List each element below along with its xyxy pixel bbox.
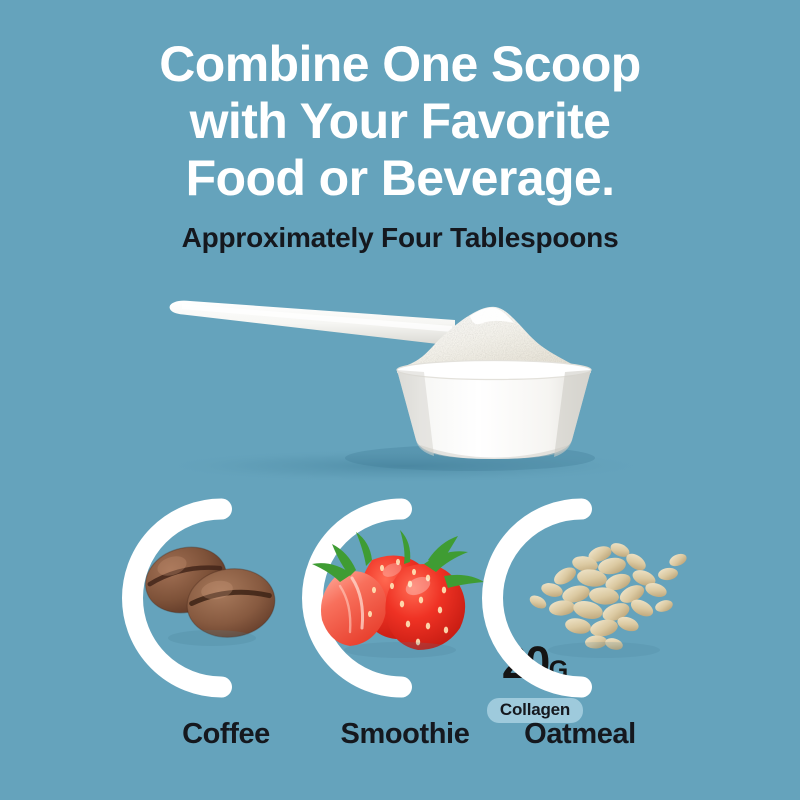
oat-flakes-icon <box>527 540 688 651</box>
infographic-canvas: Combine One Scoop with Your Favorite Foo… <box>0 0 800 800</box>
headline-line-2: with Your Favorite <box>0 93 800 150</box>
headline-line-1: Combine One Scoop <box>0 36 800 93</box>
subtitle: Approximately Four Tablespoons <box>0 222 800 254</box>
caption-coffee: Coffee <box>126 718 326 751</box>
ring-smoothie <box>312 509 484 687</box>
ring-coffee <box>133 509 280 687</box>
headline-line-3: Food or Beverage. <box>0 150 800 207</box>
pairing-captions: Coffee Smoothie Oatmeal <box>0 718 800 764</box>
pairing-rings <box>0 498 800 698</box>
caption-oatmeal: Oatmeal <box>480 718 680 751</box>
strawberry-icon <box>312 530 484 658</box>
ring-oatmeal <box>493 509 689 687</box>
scoop-image <box>0 280 800 490</box>
coffee-bean-icon <box>138 538 280 646</box>
page-title: Combine One Scoop with Your Favorite Foo… <box>0 36 800 207</box>
caption-smoothie: Smoothie <box>305 718 505 751</box>
scoop-illustration: 20G Collagen <box>0 280 800 490</box>
